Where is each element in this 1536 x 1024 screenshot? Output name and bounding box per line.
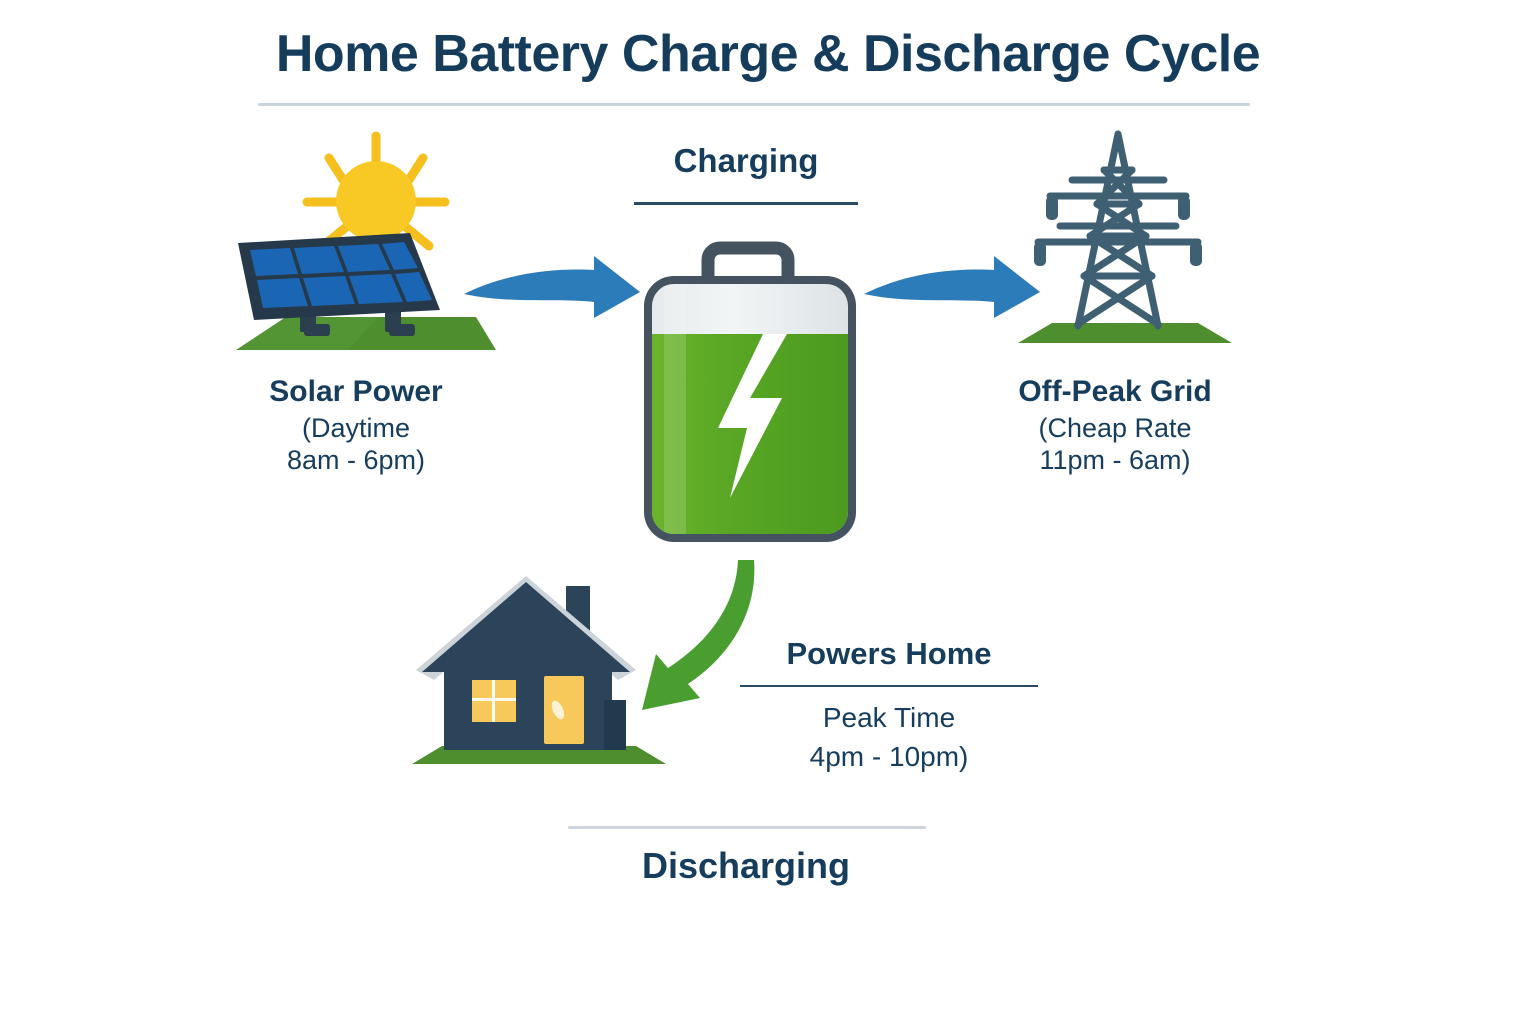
curved-arrow-right-icon-solar-to-battery <box>458 250 648 340</box>
charging-label: Charging <box>596 142 896 180</box>
solar-title: Solar Power <box>196 374 516 409</box>
solar-caption: Solar Power (Daytime 8am - 6pm) <box>196 374 516 477</box>
charging-underline <box>634 202 858 205</box>
transmission-tower-icon <box>1008 118 1248 358</box>
arrow-shape <box>464 256 640 318</box>
door <box>544 676 584 744</box>
powers-home-sub-2: 4pm - 10pm) <box>738 737 1040 776</box>
discharging-divider <box>568 826 926 829</box>
powers-home-sub-1: Peak Time <box>738 698 1040 737</box>
page-title: Home Battery Charge & Discharge Cycle <box>0 24 1536 84</box>
sun-disc-icon <box>336 161 416 241</box>
infographic-canvas: Home Battery Charge & Discharge Cycle Ch… <box>0 0 1536 1024</box>
solar-panel-with-sun-icon <box>228 128 496 358</box>
powers-home-label: Powers Home <box>738 636 1040 672</box>
house-wall <box>444 666 612 750</box>
powers-home-underline <box>740 685 1038 687</box>
grid-sub-1: (Cheap Rate <box>955 413 1275 445</box>
powers-home-subtext: Peak Time 4pm - 10pm) <box>738 698 1040 776</box>
grid-caption: Off-Peak Grid (Cheap Rate 11pm - 6am) <box>955 374 1275 477</box>
grass-patch <box>1018 323 1232 343</box>
solar-sub-1: (Daytime <box>196 413 516 445</box>
title-divider <box>258 103 1250 106</box>
roof <box>422 582 630 672</box>
discharging-label: Discharging <box>546 845 946 887</box>
grid-sub-2: 11pm - 6am) <box>955 445 1275 477</box>
house-extension <box>604 700 626 750</box>
house-icon <box>408 558 674 790</box>
solar-sub-2: 8am - 6pm) <box>196 445 516 477</box>
tower-lattice <box>1038 134 1198 326</box>
grid-title: Off-Peak Grid <box>955 374 1275 409</box>
battery-charging-icon <box>630 240 870 560</box>
